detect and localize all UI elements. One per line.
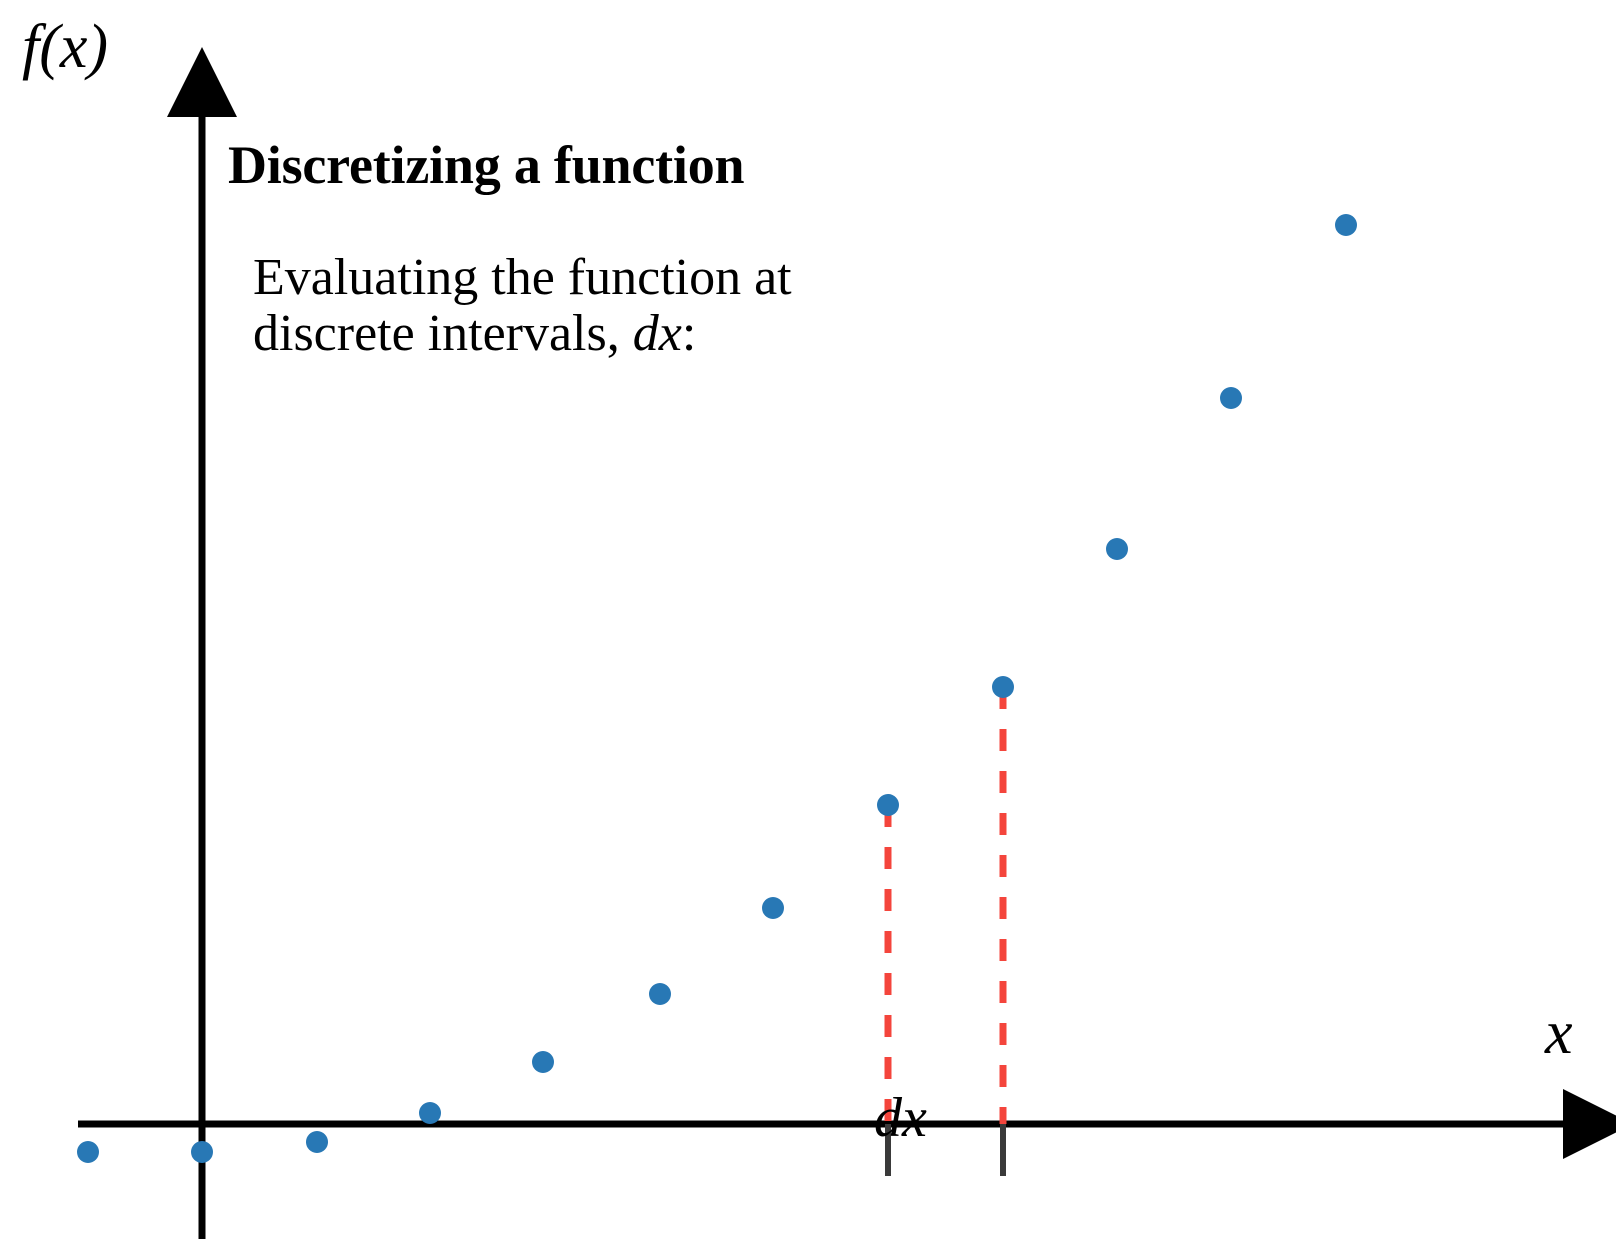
data-point-marker (649, 983, 671, 1005)
description-line-2-emphasis: dx (633, 305, 682, 362)
data-point-marker (1220, 387, 1242, 409)
description-line-1: Evaluating the function at (253, 249, 792, 306)
x-axis-label: x (1545, 1000, 1573, 1067)
data-point-marker (306, 1131, 328, 1153)
data-point-marker (77, 1141, 99, 1163)
y-axis-label: f(x) (22, 14, 108, 81)
figure-canvas: f(x) x Discretizing a function Evaluatin… (0, 0, 1616, 1239)
data-point-marker (762, 897, 784, 919)
data-point-marker (1335, 214, 1357, 236)
data-point-marker (532, 1051, 554, 1073)
description-text: Evaluating the function at discrete inte… (253, 250, 792, 362)
description-line-2-suffix: : (682, 305, 696, 362)
data-point-marker (419, 1102, 441, 1124)
data-point-marker (191, 1141, 213, 1163)
data-point-marker (1106, 538, 1128, 560)
page-title: Discretizing a function (228, 136, 744, 194)
data-point-marker (992, 676, 1014, 698)
description-line-2-prefix: discrete intervals, (253, 305, 633, 362)
dx-guide-lines-group (888, 687, 1003, 1124)
data-point-marker (877, 794, 899, 816)
dx-interval-label: dx (874, 1088, 927, 1148)
